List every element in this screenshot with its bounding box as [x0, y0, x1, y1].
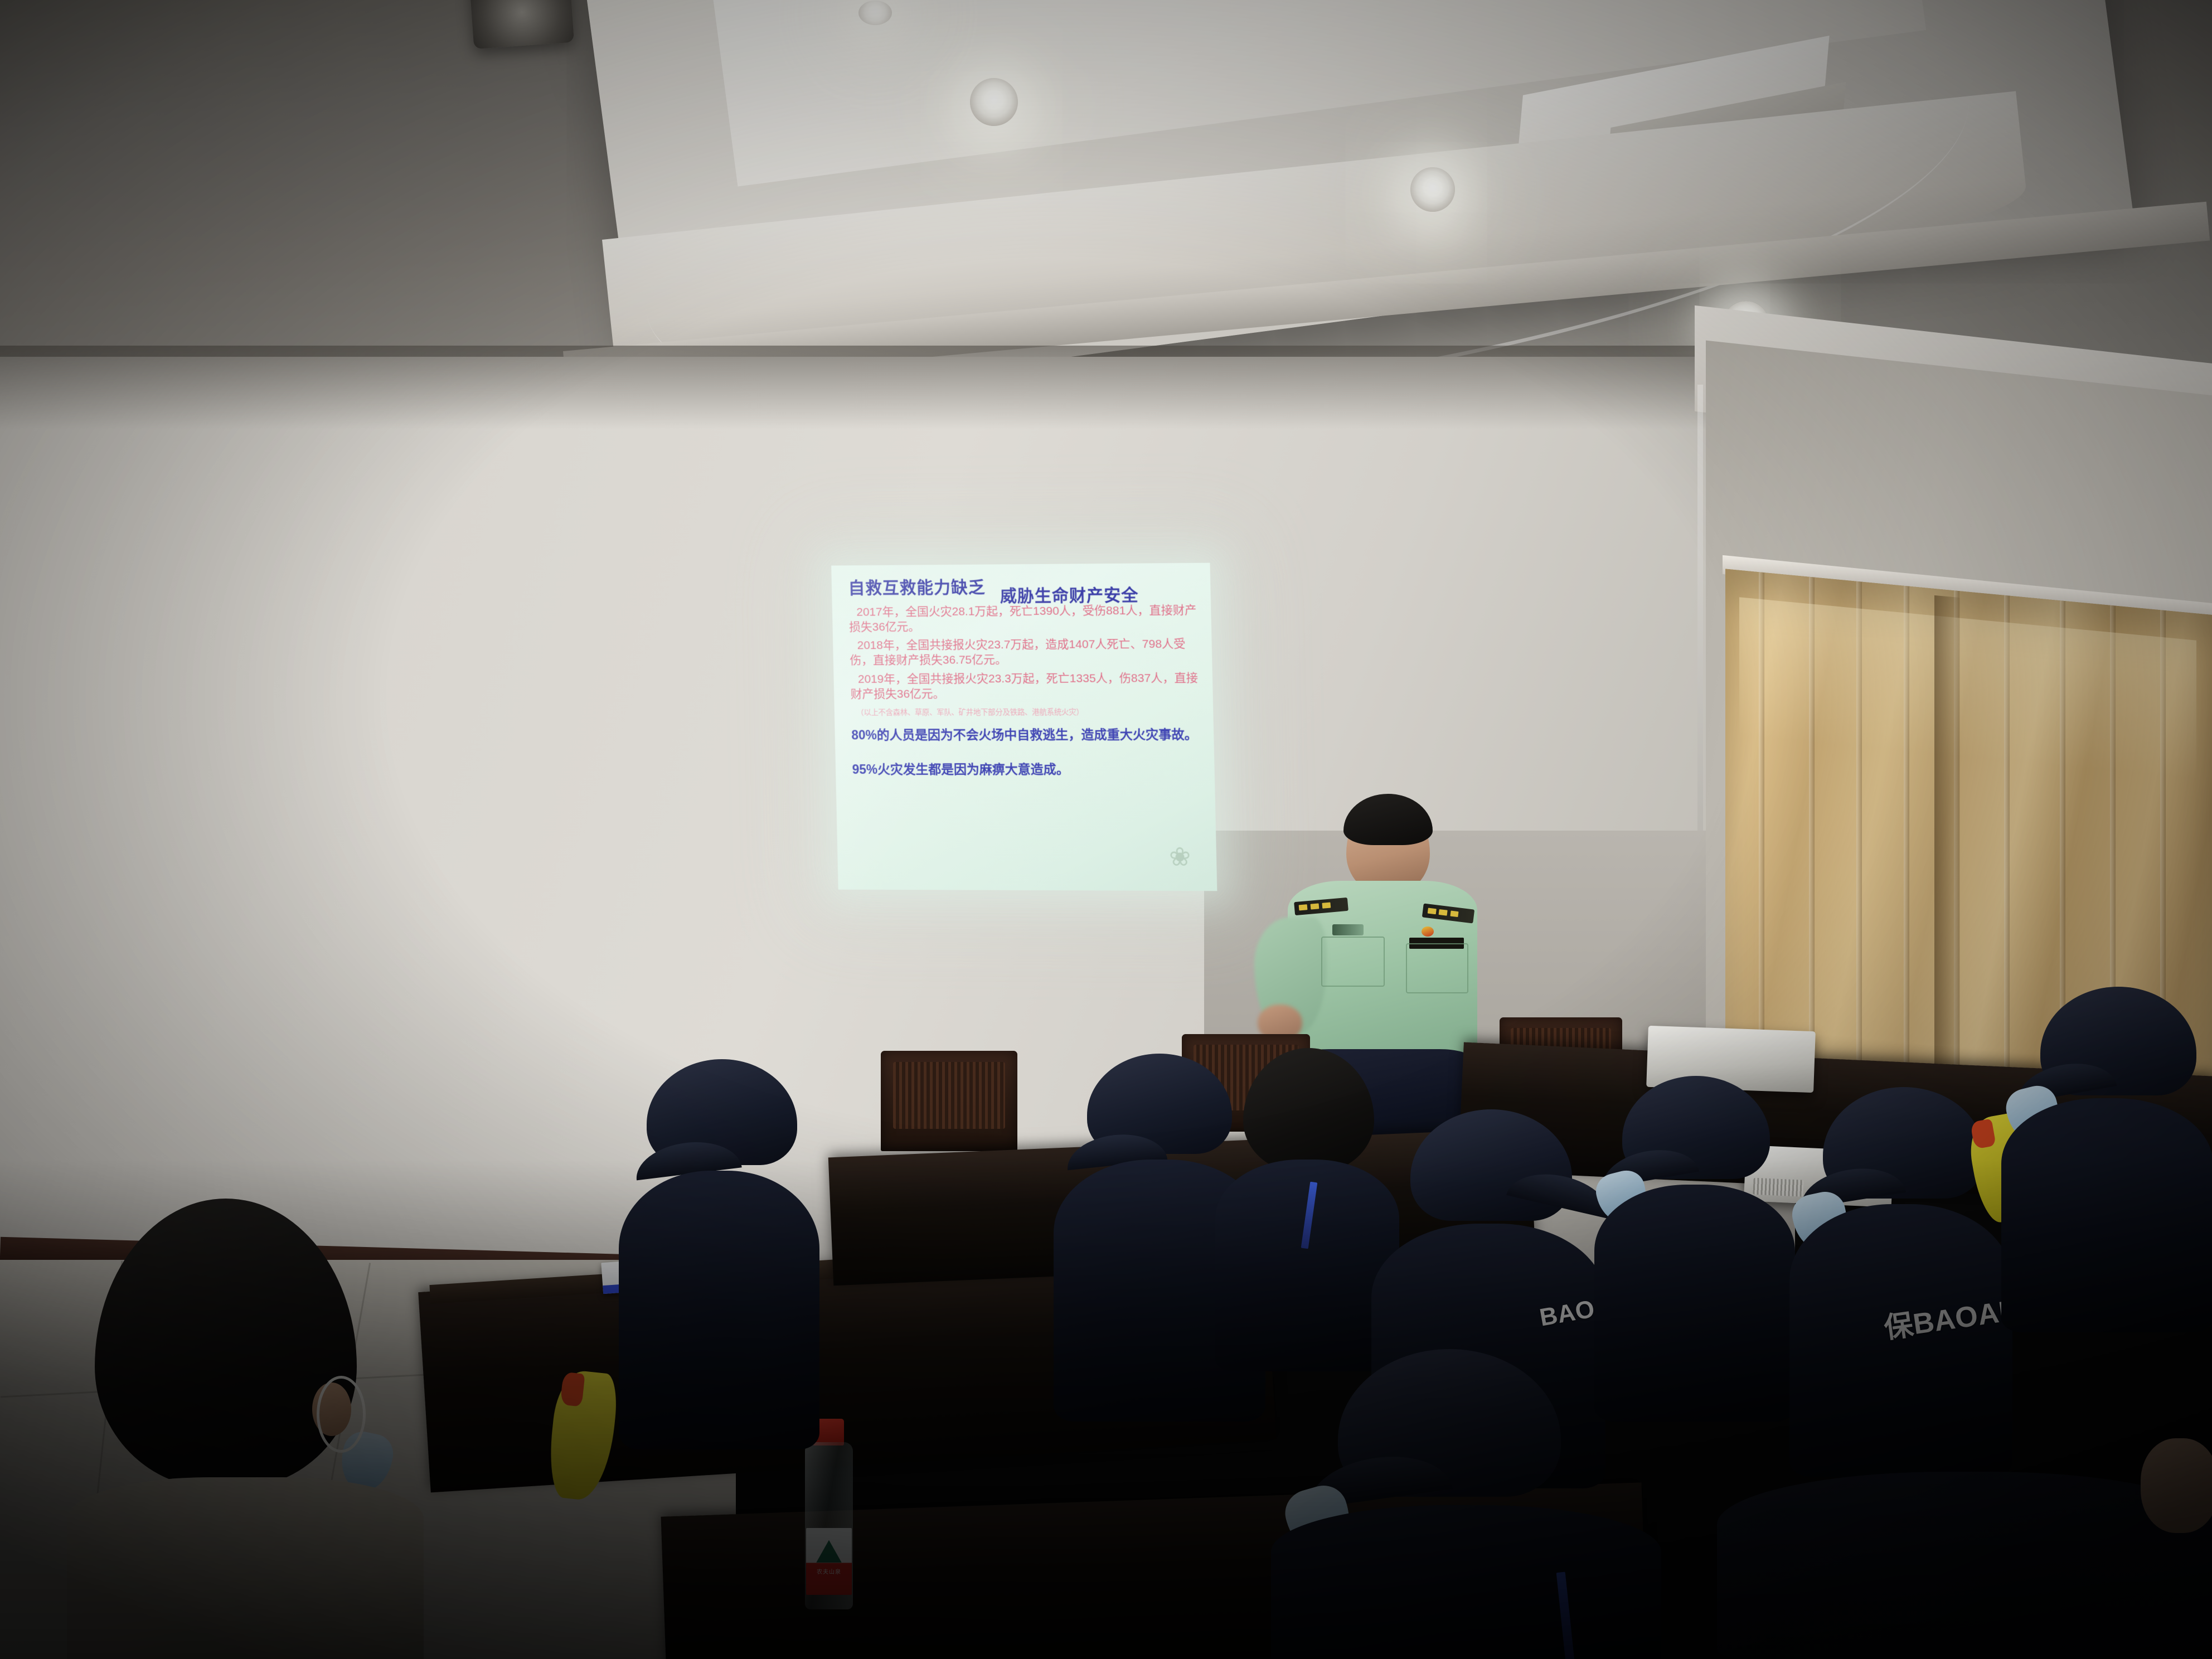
bottle-brand-text: 农夫山泉 [806, 1567, 852, 1575]
attendee-bottom-far-right [1717, 1438, 2212, 1659]
stat-2017: 2017年，全国火灾28.1万起，死亡1390人，受伤881人，直接财产损失36… [848, 603, 1199, 635]
slide-title-left: 自救互救能力缺乏 [848, 579, 986, 598]
attendee-torso [2001, 1098, 2212, 1332]
bottle-label: 农夫山泉 [806, 1528, 852, 1595]
attendee-foreground-left [67, 1199, 424, 1659]
attendee-hand [2141, 1438, 2212, 1533]
slide-title-right: 威胁生命财产安全 [1000, 587, 1139, 605]
slide-watermark-icon: ❀ [1169, 844, 1207, 884]
stat-2018: 2018年，全国共接报火灾23.7万起，造成1407人死亡、798人受伤，直接财… [850, 637, 1200, 668]
slide-statistics: 2017年，全国火灾28.1万起，死亡1390人，受伤881人，直接财产损失36… [848, 603, 1200, 702]
chair-back-row-1[interactable] [881, 1051, 1017, 1151]
slide-surface: 自救互救能力缺乏 威胁生命财产安全 2017年，全国火灾28.1万起，死亡139… [831, 563, 1217, 891]
ceiling-downlight-5 [858, 1, 892, 25]
projected-slide: 自救互救能力缺乏 威胁生命财产安全 2017年，全国火灾28.1万起，死亡139… [831, 563, 1217, 891]
bottle-logo-icon [816, 1540, 842, 1563]
attendee-torso [1717, 1472, 2212, 1659]
presenter-chest-pocket-left [1321, 937, 1385, 987]
attendee-cap-left-1 [619, 1059, 819, 1449]
slide-title: 自救互救能力缺乏 威胁生命财产安全 [848, 578, 1199, 606]
attendee-shirt [67, 1477, 424, 1659]
presenter-shoulder-patch [1332, 924, 1364, 935]
presenter-hair [1343, 794, 1433, 845]
wall-top-shadow [0, 346, 1795, 429]
attendee-right-2 [2001, 987, 2212, 1332]
attendee-right-1: 保BAOAN安 [1789, 1087, 2012, 1477]
wall-clock [468, 0, 574, 49]
attendee-mask-strap [317, 1376, 366, 1453]
slide-footnote: （以上不含森林、草原、军队、矿井地下部分及铁路、港航系统火灾） [851, 706, 1201, 717]
slide-highlight-95: 95%火灾发生都是因为麻痹大意造成。 [852, 761, 1202, 777]
attendee-torso [619, 1171, 819, 1449]
attendee-head [95, 1199, 357, 1488]
attendee-bottom-right [1271, 1349, 1661, 1659]
presenter-chest-pocket-right [1406, 943, 1468, 993]
slide-highlight-80: 80%的人员是因为不会火场中自救逃生，造成重大火灾事故。 [851, 727, 1201, 743]
ceiling-downlight-1 [970, 78, 1018, 126]
attendee-torso [1271, 1505, 1661, 1659]
conference-room-photo: 自救互救能力缺乏 威胁生命财产安全 2017年，全国火灾28.1万起，死亡139… [0, 0, 2212, 1659]
presenter-collar-insignia [1422, 926, 1434, 937]
ceiling-downlight-2 [1410, 167, 1455, 212]
attendee-head [1243, 1048, 1374, 1173]
stat-2019: 2019年，全国共接报火灾23.3万起，死亡1335人，伤837人，直接财产损失… [850, 671, 1201, 702]
